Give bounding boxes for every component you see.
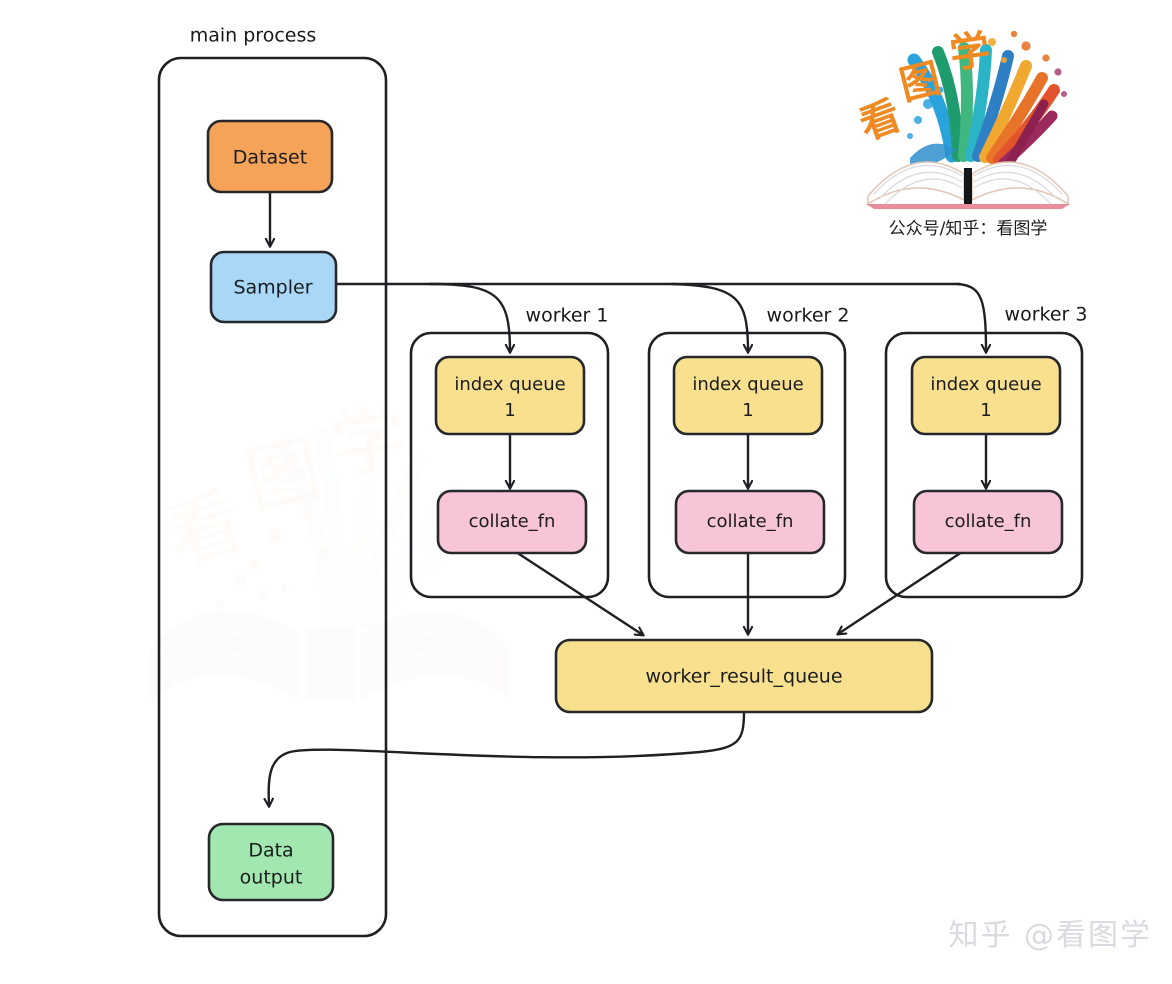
svg-text:看: 看: [854, 92, 907, 149]
node-label-index-queue-3-line1: index queue: [930, 374, 1041, 395]
node-index-queue-3[interactable]: index queue 1: [912, 357, 1060, 434]
node-label-data-output-line1: Data: [248, 840, 293, 862]
group-label-worker-2: worker 2: [767, 305, 850, 327]
group-label-worker-3: worker 3: [1005, 304, 1088, 326]
node-index-queue-1[interactable]: index queue 1: [436, 357, 584, 434]
node-label-index-queue-2-line2: 1: [742, 400, 753, 421]
node-label-index-queue-1-line2: 1: [504, 400, 515, 421]
open-book-logo-icon: 看 图 学: [852, 8, 1084, 213]
brand-logo-card: 看 图 学 公众号/知乎：看图学: [852, 8, 1084, 263]
group-label-worker-1: worker 1: [526, 305, 609, 327]
svg-text:学: 学: [947, 27, 993, 78]
logo-caption: 公众号/知乎：看图学: [852, 214, 1084, 239]
node-collate-fn-1[interactable]: collate_fn: [438, 491, 586, 553]
node-label-index-queue-3-line2: 1: [980, 400, 991, 421]
node-sampler[interactable]: Sampler: [211, 252, 336, 322]
zhihu-watermark: 知乎 @看图学: [948, 910, 1152, 954]
node-label-dataset: Dataset: [233, 147, 307, 169]
node-index-queue-2[interactable]: index queue 1: [674, 357, 822, 434]
node-collate-fn-3[interactable]: collate_fn: [914, 491, 1062, 553]
node-worker-result-queue[interactable]: worker_result_queue: [556, 640, 932, 712]
node-collate-fn-2[interactable]: collate_fn: [676, 491, 824, 553]
node-label-worker-result-queue: worker_result_queue: [645, 666, 842, 688]
node-label-sampler: Sampler: [233, 277, 312, 299]
node-label-collate-fn-3: collate_fn: [945, 511, 1032, 532]
diagram-canvas: 看 图 学 main process worker 1 worker 2 wor…: [0, 0, 1172, 984]
group-label-main-process: main process: [190, 25, 317, 47]
node-dataset[interactable]: Dataset: [208, 121, 332, 192]
node-label-collate-fn-2: collate_fn: [707, 511, 794, 532]
node-label-data-output-line2: output: [240, 867, 303, 889]
node-label-index-queue-1-line1: index queue: [454, 374, 565, 395]
node-label-index-queue-2-line1: index queue: [692, 374, 803, 395]
node-label-collate-fn-1: collate_fn: [469, 511, 556, 532]
node-data-output[interactable]: Data output: [209, 824, 333, 900]
